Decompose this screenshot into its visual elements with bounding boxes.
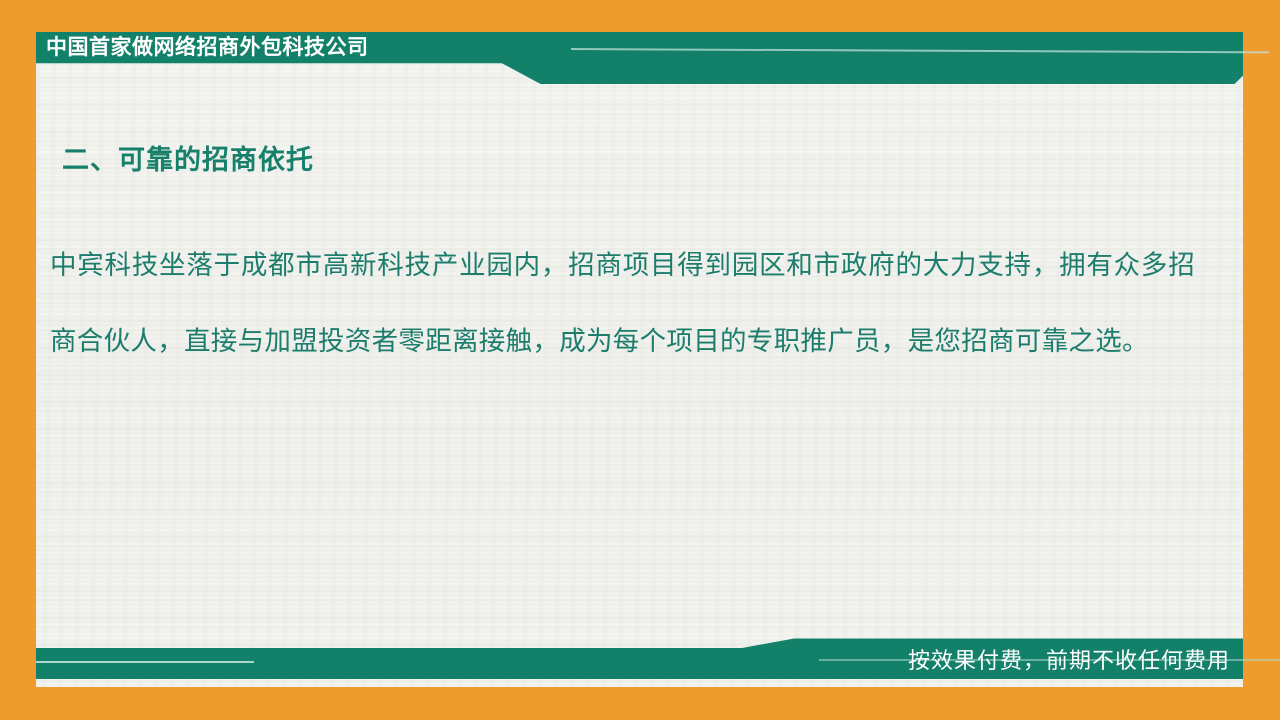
presentation-slide: 中国首家做网络招商外包科技公司 二、可靠的招商依托 中宾科技坐落于成都市高新科技…: [0, 0, 1280, 720]
section-heading: 二、可靠的招商依托: [62, 138, 314, 177]
body-text-block: 中宾科技坐落于成都市高新科技产业园内，招商项目得到园区和市政府的大力支持，拥有众…: [50, 228, 1195, 380]
body-paragraph: 中宾科技坐落于成都市高新科技产业园内，招商项目得到园区和市政府的大力支持，拥有众…: [50, 228, 1195, 380]
header-title: 中国首家做网络招商外包科技公司: [46, 32, 369, 64]
footer-accent-line-left: [36, 661, 254, 663]
footer-tagline: 按效果付费，前期不收任何费用: [908, 645, 1230, 677]
